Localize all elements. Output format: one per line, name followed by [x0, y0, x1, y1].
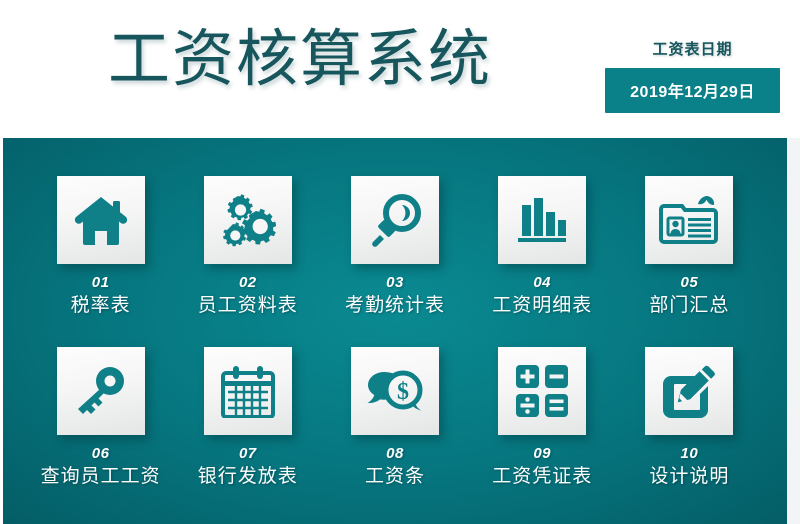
tile-label: 部门汇总 — [649, 294, 729, 318]
gears-icon[interactable] — [204, 176, 292, 264]
magnifier-icon[interactable] — [351, 176, 439, 264]
id-card-icon[interactable] — [645, 176, 733, 264]
payroll-date-label: 工资表日期 — [605, 40, 780, 60]
bar-chart-icon[interactable] — [498, 176, 586, 264]
tile-label: 工资明细表 — [492, 294, 592, 318]
page-header: 工资核算系统 工资表日期 2019年12月29日 — [0, 0, 800, 138]
panel-right-margin — [787, 138, 800, 524]
svg-text:$: $ — [397, 379, 409, 405]
menu-tile-bank-payment-table[interactable]: 07 银行发放表 — [174, 347, 321, 510]
tile-number: 04 — [533, 274, 551, 291]
page-title: 工资核算系统 — [108, 22, 492, 98]
menu-tile-attendance-stats[interactable]: 03 考勤统计表 — [321, 176, 468, 339]
menu-tile-payslip[interactable]: $ 08 工资条 — [321, 347, 468, 510]
tile-number: 01 — [92, 274, 110, 291]
money-chat-icon[interactable]: $ — [351, 347, 439, 435]
menu-tile-tax-rate-table[interactable]: 01 税率表 — [27, 176, 174, 339]
tile-number: 06 — [92, 445, 110, 462]
tile-label: 工资凭证表 — [492, 465, 592, 489]
menu-panel: 01 税率表 — [3, 138, 787, 524]
tile-number: 02 — [239, 274, 257, 291]
house-icon[interactable] — [57, 176, 145, 264]
menu-tile-grid: 01 税率表 — [3, 138, 787, 524]
key-icon[interactable] — [57, 347, 145, 435]
tile-label: 设计说明 — [649, 465, 729, 489]
edit-pencil-icon[interactable] — [645, 347, 733, 435]
calendar-icon[interactable] — [204, 347, 292, 435]
menu-tile-salary-detail[interactable]: 04 工资明细表 — [469, 176, 616, 339]
menu-tile-query-employee-salary[interactable]: 06 查询员工工资 — [27, 347, 174, 510]
menu-tile-design-notes[interactable]: 10 设计说明 — [616, 347, 763, 510]
tile-number: 10 — [681, 445, 699, 462]
tile-number: 07 — [239, 445, 257, 462]
payroll-date-block: 工资表日期 2019年12月29日 — [605, 40, 780, 113]
menu-tile-department-summary[interactable]: 05 部门汇总 — [616, 176, 763, 339]
tile-number: 03 — [386, 274, 404, 291]
tile-label: 查询员工工资 — [41, 465, 161, 489]
menu-tile-employee-data[interactable]: 02 员工资料表 — [174, 176, 321, 339]
tile-label: 考勤统计表 — [345, 294, 445, 318]
tile-number: 08 — [386, 445, 404, 462]
tile-label: 银行发放表 — [198, 465, 298, 489]
tile-number: 09 — [533, 445, 551, 462]
tile-label: 员工资料表 — [198, 294, 298, 318]
tile-number: 05 — [681, 274, 699, 291]
tile-label: 工资条 — [365, 465, 425, 489]
menu-tile-salary-voucher[interactable]: 09 工资凭证表 — [469, 347, 616, 510]
payroll-date-badge[interactable]: 2019年12月29日 — [605, 68, 780, 113]
calculator-icon[interactable] — [498, 347, 586, 435]
tile-label: 税率表 — [71, 294, 131, 318]
